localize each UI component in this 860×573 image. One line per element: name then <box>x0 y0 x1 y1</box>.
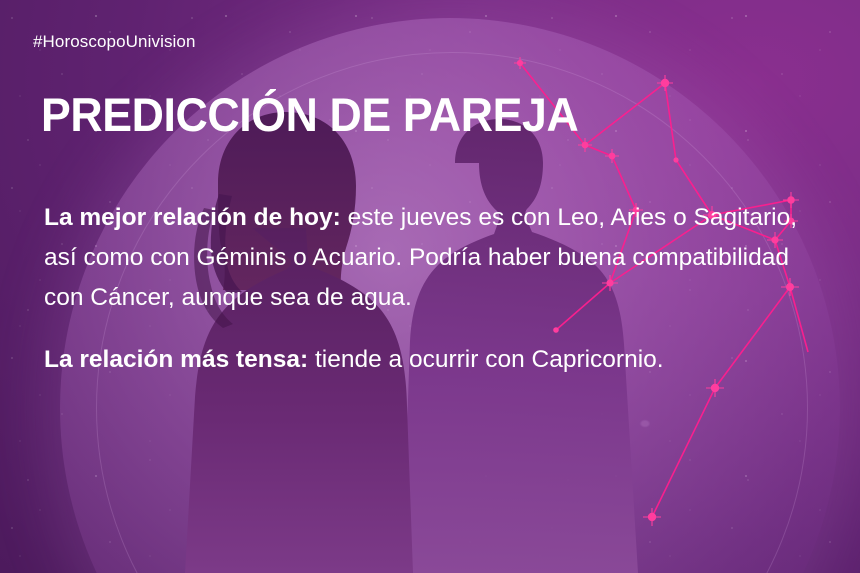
page-title: PREDICCIÓN DE PAREJA <box>41 90 578 140</box>
paragraph-tense-match-rest: tiende a ocurrir con Capricornio. <box>308 346 663 373</box>
paragraph-best-match-lead: La mejor relación de hoy: <box>44 204 341 231</box>
paragraph-best-match: La mejor relación de hoy: este jueves es… <box>44 198 834 318</box>
paragraph-tense-match: La relación más tensa: tiende a ocurrir … <box>44 340 834 380</box>
body-copy: La mejor relación de hoy: este jueves es… <box>44 198 834 380</box>
hashtag-label: #HoroscopoUnivision <box>33 32 196 52</box>
paragraph-tense-match-lead: La relación más tensa: <box>44 346 308 373</box>
text-content: #HoroscopoUnivision PREDICCIÓN DE PAREJA… <box>0 0 860 573</box>
horoscope-card: #HoroscopoUnivision PREDICCIÓN DE PAREJA… <box>0 0 860 573</box>
